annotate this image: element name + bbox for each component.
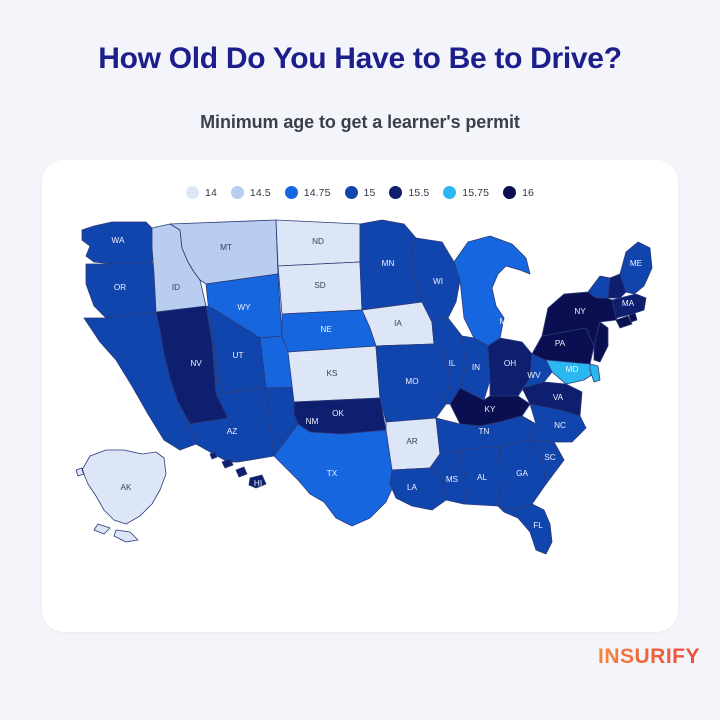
- insurify-logo: INSURIFY: [0, 645, 700, 669]
- legend-swatch-15.5: [389, 186, 402, 199]
- state-label-me: ME: [630, 259, 643, 268]
- state-label-in: IN: [472, 363, 480, 372]
- state-label-ga: GA: [516, 469, 528, 478]
- state-label-ar: AR: [406, 437, 417, 446]
- state-label-wy: WY: [237, 303, 251, 312]
- state-label-nd: ND: [312, 237, 324, 246]
- map-card: 1414.514.751515.515.7516: [42, 160, 678, 632]
- state-label-mt: MT: [220, 243, 232, 252]
- state-label-al: AL: [477, 473, 487, 482]
- state-mi[interactable]: [454, 236, 530, 346]
- state-label-id: ID: [172, 283, 180, 292]
- legend-item-16: 16: [503, 186, 534, 199]
- legend-item-15.5: 15.5: [389, 186, 429, 199]
- legend-item-14: 14: [186, 186, 217, 199]
- state-label-fl: FL: [533, 521, 543, 530]
- state-label-az: AZ: [227, 427, 237, 436]
- legend-label-15.75: 15.75: [462, 187, 489, 199]
- state-label-mo: MO: [405, 377, 418, 386]
- state-label-mi: MI: [499, 317, 508, 326]
- state-label-co: CO: [300, 353, 312, 362]
- state-label-nv: NV: [190, 359, 202, 368]
- state-de[interactable]: [590, 364, 600, 382]
- state-label-la: LA: [407, 483, 418, 492]
- state-label-wi: WI: [433, 277, 443, 286]
- state-label-va: VA: [553, 393, 564, 402]
- state-label-or: OR: [114, 283, 126, 292]
- legend-label-15.5: 15.5: [408, 187, 429, 199]
- legend-item-15: 15: [345, 186, 376, 199]
- state-label-sd: SD: [314, 281, 325, 290]
- state-label-ok: OK: [332, 409, 344, 418]
- legend-swatch-14.5: [231, 186, 244, 199]
- state-label-ia: IA: [394, 319, 402, 328]
- state-label-oh: OH: [504, 359, 516, 368]
- state-label-ky: KY: [485, 405, 496, 414]
- state-label-sc: SC: [544, 453, 555, 462]
- legend-swatch-14.75: [285, 186, 298, 199]
- insurify-logo-text: INSURIFY: [598, 645, 700, 668]
- legend-label-14.75: 14.75: [304, 187, 331, 199]
- legend-item-15.75: 15.75: [443, 186, 489, 199]
- state-label-tn: TN: [479, 427, 490, 436]
- state-vt[interactable]: [588, 276, 610, 298]
- state-label-pa: PA: [555, 339, 566, 348]
- state-label-ne: NE: [320, 325, 332, 334]
- state-label-nc: NC: [554, 421, 566, 430]
- state-label-hi: HI: [254, 479, 262, 488]
- legend-item-14.5: 14.5: [231, 186, 271, 199]
- state-label-ak: AK: [121, 483, 132, 492]
- state-label-wa: WA: [112, 236, 125, 245]
- state-label-ca: CA: [116, 375, 128, 384]
- state-hi[interactable]: [236, 467, 247, 477]
- infographic-poster: How Old Do You Have to Be to Drive? Mini…: [0, 0, 720, 720]
- legend-label-14.5: 14.5: [250, 187, 271, 199]
- state-label-ma: MA: [622, 299, 635, 308]
- state-me[interactable]: [620, 242, 652, 294]
- state-label-md: MD: [566, 365, 579, 374]
- state-label-ks: KS: [327, 369, 338, 378]
- legend-swatch-14: [186, 186, 199, 199]
- legend-label-14: 14: [205, 187, 217, 199]
- legend-swatch-16: [503, 186, 516, 199]
- state-label-il: IL: [449, 359, 456, 368]
- state-label-tx: TX: [327, 469, 338, 478]
- legend-label-15: 15: [364, 187, 376, 199]
- state-label-ms: MS: [446, 475, 459, 484]
- state-label-ny: NY: [574, 307, 586, 316]
- legend-label-16: 16: [522, 187, 534, 199]
- state-ak[interactable]: [76, 450, 166, 542]
- legend-swatch-15: [345, 186, 358, 199]
- legend-item-14.75: 14.75: [285, 186, 331, 199]
- state-label-ut: UT: [233, 351, 244, 360]
- state-label-nm: NM: [306, 417, 319, 426]
- page-subtitle: Minimum age to get a learner's permit: [0, 112, 720, 133]
- page-title: How Old Do You Have to Be to Drive?: [0, 42, 720, 76]
- state-fl[interactable]: [498, 504, 552, 554]
- state-label-wv: WV: [527, 371, 541, 380]
- state-label-mn: MN: [382, 259, 395, 268]
- legend-swatch-15.75: [443, 186, 456, 199]
- legend: 1414.514.751515.515.7516: [42, 186, 678, 199]
- us-choropleth-map: WAORCANVIDMTWYUTCOAZNMNDSDNEKSOKTXMNIAMO…: [60, 218, 660, 568]
